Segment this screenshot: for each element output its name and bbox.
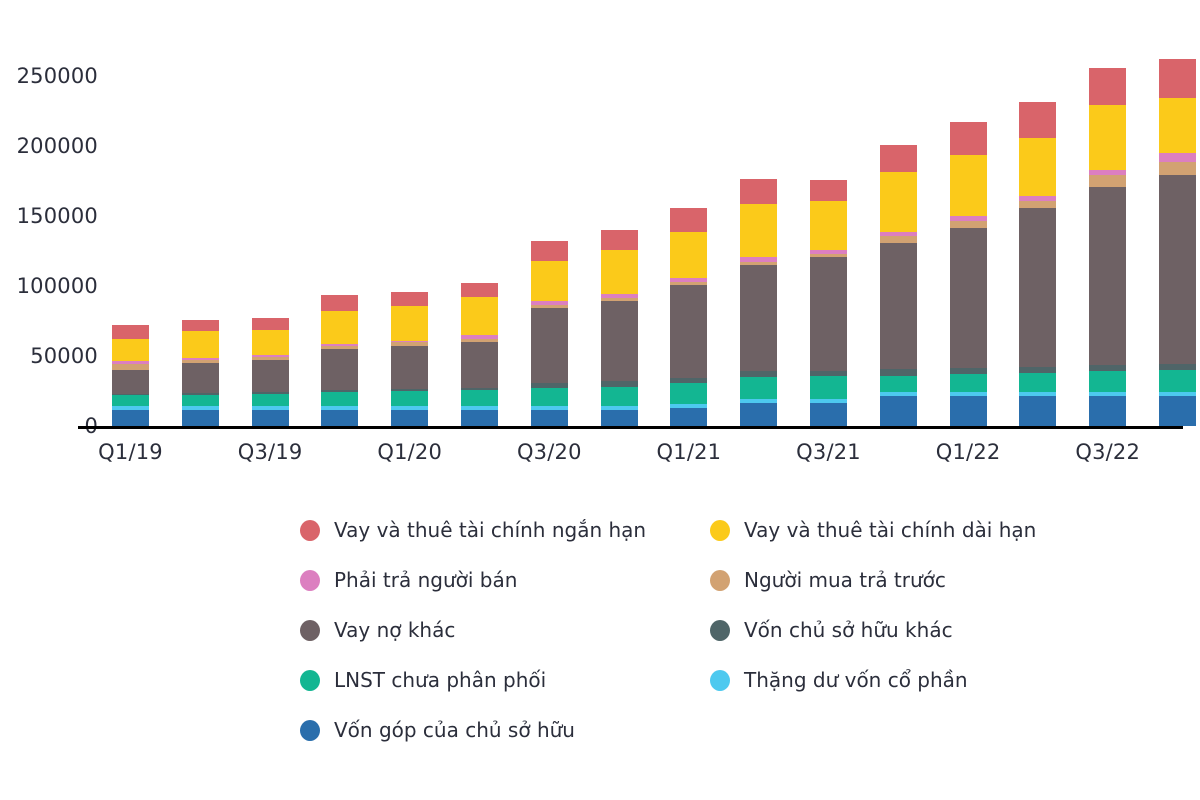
bar-stack[interactable] [601,230,638,426]
legend-item[interactable]: Thặng dư vốn cổ phần [710,668,1060,692]
x-axis-tick-label: Q3/19 [238,440,303,464]
legend-item[interactable]: Người mua trả trước [710,568,1060,592]
bar-segment[interactable] [321,392,358,405]
chart-page: 050000100000150000200000250000 Q1/19Q3/1… [0,0,1200,800]
bar-segment[interactable] [880,396,917,426]
bar-segment[interactable] [950,221,987,228]
bar-segment[interactable] [531,388,568,406]
bar-segment[interactable] [531,410,568,426]
bar-segment[interactable] [112,395,149,406]
bar-segment[interactable] [321,295,358,311]
bar-segment[interactable] [950,374,987,392]
x-axis-tick-label: Q1/21 [657,440,722,464]
bar-segment[interactable] [1019,102,1056,138]
legend-color-swatch-icon [710,570,730,591]
bar-stack[interactable] [880,145,917,426]
bar-segment[interactable] [182,363,219,393]
bar-segment[interactable] [1159,175,1196,364]
legend-item[interactable]: Phải trả người bán [300,568,710,592]
bar-segment[interactable] [461,283,498,297]
bar-stack[interactable] [740,179,777,426]
bar-segment[interactable] [1089,68,1126,105]
bar-segment[interactable] [252,394,289,406]
bar-segment[interactable] [112,370,149,394]
bar-segment[interactable] [1159,370,1196,392]
bar-stack[interactable] [461,283,498,426]
bar-stack[interactable] [252,318,289,426]
legend-color-swatch-icon [710,620,730,641]
bar-segment[interactable] [740,377,777,399]
legend-color-swatch-icon [300,620,320,641]
bar-segment[interactable] [252,360,289,392]
bar-segment[interactable] [112,339,149,361]
bar-segment[interactable] [601,230,638,250]
bar-segment[interactable] [461,342,498,388]
bar-segment[interactable] [112,410,149,426]
bar-segment[interactable] [391,292,428,306]
bar-segment[interactable] [182,395,219,406]
bar-segment[interactable] [182,410,219,426]
bar-segment[interactable] [1159,59,1196,98]
bar-stack[interactable] [950,122,987,426]
bar-stack[interactable] [112,325,149,426]
legend-item[interactable]: Vốn góp của chủ sở hữu [300,718,710,742]
bar-segment[interactable] [670,383,707,403]
plot-area: 050000100000150000200000250000 Q1/19Q3/1… [0,0,1200,470]
x-axis-tick-label: Q1/22 [936,440,1001,464]
legend-item-label: Người mua trả trước [744,568,946,592]
legend-item[interactable]: Vay và thuê tài chính ngắn hạn [300,518,710,542]
bar-segment[interactable] [880,243,917,370]
legend-color-swatch-icon [710,520,730,541]
bar-segment[interactable] [531,241,568,261]
legend-item[interactable]: Vay và thuê tài chính dài hạn [710,518,1060,542]
x-axis-tick-label: Q1/20 [377,440,442,464]
legend-item-label: Vốn chủ sở hữu khác [744,618,953,642]
bar-segment[interactable] [670,408,707,426]
legend-item-label: LNST chưa phân phối [334,668,546,692]
bar-segment[interactable] [740,403,777,426]
legend-item[interactable]: Vay nợ khác [300,618,710,642]
bar-stack[interactable] [1159,59,1196,426]
bar-segment[interactable] [810,201,847,250]
bar-segment[interactable] [321,311,358,344]
bar-segment[interactable] [1089,396,1126,426]
legend-color-swatch-icon [300,570,320,591]
bar-segment[interactable] [950,122,987,156]
bar-segment[interactable] [252,330,289,355]
bar-segment[interactable] [1019,138,1056,196]
bar-segment[interactable] [880,145,917,172]
bar-stack[interactable] [1019,102,1056,426]
bar-series-container [0,0,1200,426]
bar-segment[interactable] [950,155,987,216]
x-axis-baseline [78,426,1183,429]
legend-item-label: Vốn góp của chủ sở hữu [334,718,575,742]
bar-segment[interactable] [670,232,707,278]
bar-stack[interactable] [182,320,219,426]
bar-segment[interactable] [810,180,847,201]
bar-segment[interactable] [810,403,847,426]
x-axis-tick-label: Q1/19 [98,440,163,464]
legend-item-label: Phải trả người bán [334,568,517,592]
bar-segment[interactable] [391,391,428,406]
bar-segment[interactable] [1019,396,1056,426]
bar-segment[interactable] [391,346,428,389]
bar-segment[interactable] [810,376,847,398]
bar-segment[interactable] [740,179,777,204]
bar-segment[interactable] [601,301,638,381]
legend-item-label: Thặng dư vốn cổ phần [744,668,968,692]
legend-color-swatch-icon [300,520,320,541]
bar-segment[interactable] [1159,98,1196,153]
legend-item-label: Vay và thuê tài chính ngắn hạn [334,518,646,542]
bar-segment[interactable] [182,320,219,331]
x-axis-tick-label: Q3/22 [1075,440,1140,464]
bar-segment[interactable] [601,250,638,295]
x-axis-tick-label: Q3/21 [796,440,861,464]
bar-segment[interactable] [1159,162,1196,175]
bar-segment[interactable] [321,349,358,390]
bar-segment[interactable] [461,390,498,406]
legend-color-swatch-icon [300,720,320,741]
legend-item[interactable]: LNST chưa phân phối [300,668,710,692]
legend-color-swatch-icon [300,670,320,691]
bar-segment[interactable] [1089,371,1126,391]
bar-segment[interactable] [950,396,987,426]
bar-segment[interactable] [461,410,498,426]
bar-stack[interactable] [391,292,428,426]
bar-segment[interactable] [740,204,777,257]
bar-segment[interactable] [740,265,777,371]
bar-segment[interactable] [391,410,428,426]
bar-segment[interactable] [1019,373,1056,392]
bar-segment[interactable] [391,306,428,341]
bar-segment[interactable] [601,410,638,426]
bar-segment[interactable] [252,318,289,330]
bar-segment[interactable] [1089,187,1126,365]
bar-segment[interactable] [252,410,289,426]
bar-segment[interactable] [880,172,917,232]
bar-segment[interactable] [112,325,149,338]
bar-segment[interactable] [670,208,707,233]
legend-color-swatch-icon [710,670,730,691]
legend-item[interactable]: Vốn chủ sở hữu khác [710,618,1060,642]
chart-legend: Vay và thuê tài chính ngắn hạnVay và thu… [300,505,1060,755]
bar-stack[interactable] [321,295,358,426]
bar-segment[interactable] [880,376,917,392]
bar-segment[interactable] [531,308,568,382]
bar-segment[interactable] [1089,175,1126,187]
bar-segment[interactable] [321,410,358,426]
x-axis-tick-label: Q3/20 [517,440,582,464]
bar-stack[interactable] [531,241,568,426]
bar-segment[interactable] [810,257,847,370]
bar-segment[interactable] [461,297,498,335]
bar-segment[interactable] [670,285,707,377]
legend-item-label: Vay và thuê tài chính dài hạn [744,518,1036,542]
bar-segment[interactable] [601,387,638,406]
bar-segment[interactable] [1019,208,1056,366]
bar-segment[interactable] [1019,201,1056,209]
bar-segment[interactable] [182,331,219,358]
bar-segment[interactable] [531,261,568,302]
bar-stack[interactable] [810,180,847,426]
bar-segment[interactable] [1089,105,1126,170]
bar-segment[interactable] [950,228,987,368]
legend-item-label: Vay nợ khác [334,618,455,642]
bar-stack[interactable] [670,208,707,426]
bar-segment[interactable] [1159,396,1196,426]
bar-stack[interactable] [1089,68,1126,426]
bar-segment[interactable] [1159,153,1196,162]
